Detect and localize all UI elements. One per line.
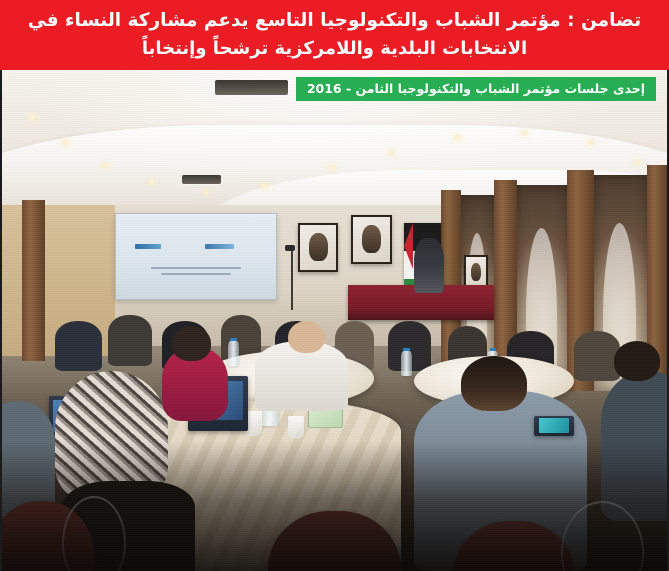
ceiling-air-vent <box>182 175 222 184</box>
photo-canvas <box>2 70 667 571</box>
headline-line-2: الانتخابات البلدية واللامركزية ترشحاً وإ… <box>142 35 527 63</box>
video-camera-icon <box>285 245 295 251</box>
bottle-cap <box>230 338 236 342</box>
projection-logo-right <box>205 244 234 249</box>
photo-caption-bar: إحدى جلسات مؤتمر الشباب والتكنولوجيا الث… <box>296 77 656 101</box>
ceiling-downlight <box>62 140 69 145</box>
ceiling-downlight <box>261 183 268 188</box>
smartphone-screen <box>539 418 569 433</box>
ceiling-downlight <box>102 163 109 168</box>
ceiling-downlight <box>521 130 528 135</box>
bottle-cap <box>403 348 409 352</box>
framed-portrait <box>298 223 339 272</box>
water-bottle <box>228 341 239 366</box>
attendee-head <box>614 341 661 381</box>
camera-tripod <box>291 250 293 310</box>
projection-caption-line <box>151 267 240 269</box>
framed-portrait <box>464 255 488 289</box>
bottle-cap <box>490 348 496 352</box>
drinking-cup <box>288 416 304 439</box>
attendee-head <box>461 356 528 411</box>
photo-caption-text: إحدى جلسات مؤتمر الشباب والتكنولوجيا الث… <box>307 83 645 96</box>
wall-column <box>22 200 45 360</box>
audience-member <box>108 315 151 365</box>
headline-banner: تضامن : مؤتمر الشباب والتكنولوجيا التاسع… <box>0 0 669 70</box>
ceiling-downlight <box>634 160 641 165</box>
ceiling-downlight <box>29 115 36 120</box>
conference-photo <box>0 70 669 571</box>
smartphone <box>534 416 574 436</box>
audience-member <box>574 331 621 381</box>
ceiling-air-vent <box>215 80 288 95</box>
audience-member <box>55 321 102 371</box>
attendee-right-edge <box>601 371 668 521</box>
attendee-head <box>288 321 325 354</box>
news-image-page: تضامن : مؤتمر الشباب والتكنولوجيا التاسع… <box>0 0 669 571</box>
ceiling-downlight <box>388 150 395 155</box>
projection-caption-line <box>161 273 231 275</box>
water-bottle <box>401 351 412 376</box>
ceiling-downlight <box>202 190 209 195</box>
speaker-at-podium <box>414 238 444 293</box>
headline-line-1: تضامن : مؤتمر الشباب والتكنولوجيا التاسع… <box>28 7 641 36</box>
projection-logo-left <box>135 244 161 249</box>
projection-screen <box>115 213 277 300</box>
attendee-head <box>172 326 212 361</box>
framed-portrait <box>351 215 392 264</box>
